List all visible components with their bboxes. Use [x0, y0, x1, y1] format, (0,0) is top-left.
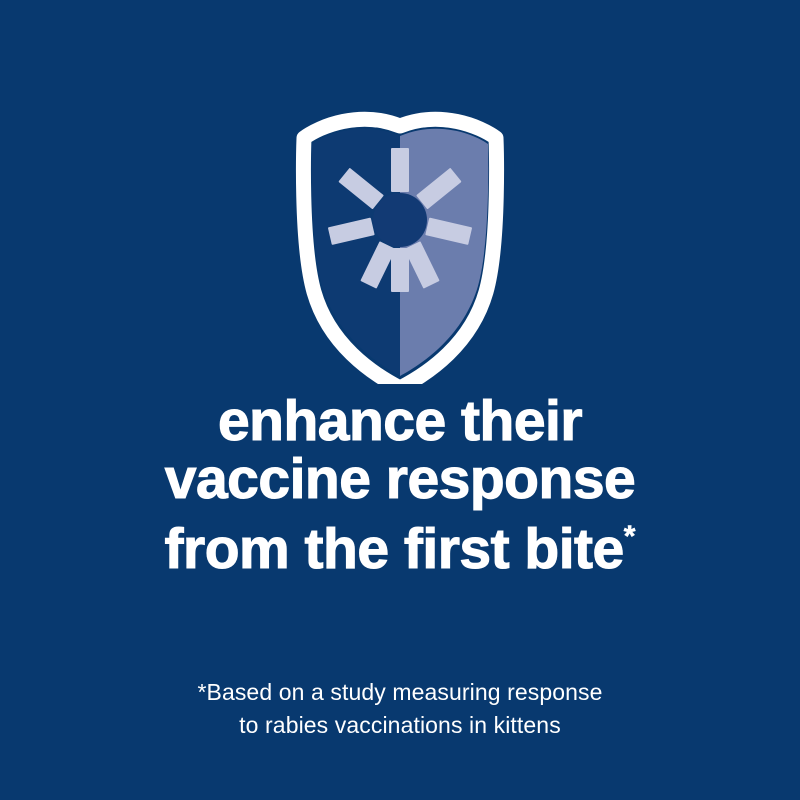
promotional-poster: enhance their vaccine response from the …	[0, 0, 800, 800]
footnote: *Based on a study measuring response to …	[0, 676, 800, 742]
shield-sun-logo	[288, 108, 512, 384]
shield-center-hub	[373, 193, 427, 247]
footnote-line-2: to rabies vaccinations in kittens	[0, 709, 800, 742]
headline-line-1: enhance their	[0, 392, 800, 450]
footnote-marker-asterisk: *	[624, 520, 636, 553]
footnote-line-1: *Based on a study measuring response	[0, 676, 800, 709]
headline: enhance their vaccine response from the …	[0, 392, 800, 578]
logo-container	[0, 108, 800, 384]
headline-line-3: from the first bite*	[0, 508, 800, 578]
headline-line-3-text: from the first bite	[165, 517, 624, 581]
headline-line-2: vaccine response	[0, 450, 800, 508]
